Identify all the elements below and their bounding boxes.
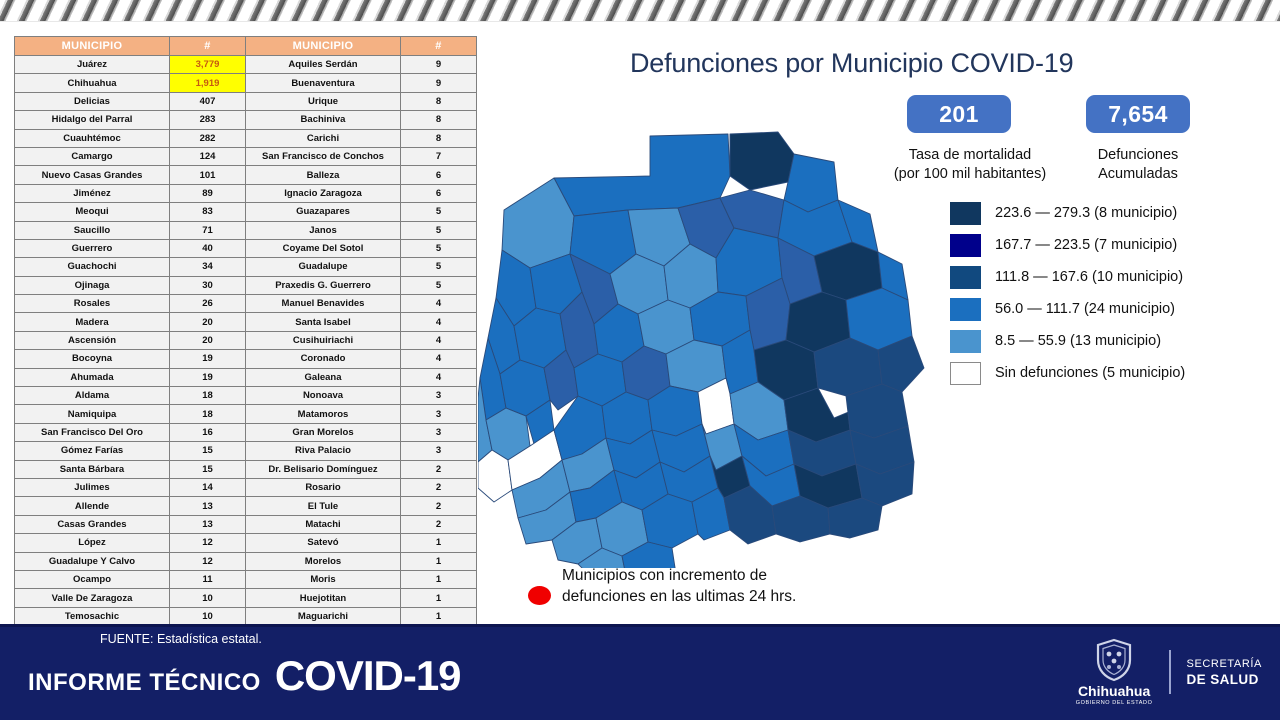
page-title: Defunciones por Municipio COVID-19 [630,48,1073,79]
cell-municipio-right: Satevó [246,534,401,552]
table-row: Guerrero40Coyame Del Sotol5 [15,239,477,257]
cell-count-right: 8 [401,129,477,147]
secretaria-de-salud-logo: SECRETARÍA DE SALUD [1187,657,1262,687]
stat-label-accumulated-deaths: Defunciones Acumuladas [1072,146,1204,184]
brand-prefix: INFORME TÉCNICO [28,669,261,697]
cell-count-right: 9 [401,74,477,92]
cell-municipio-left: Gómez Farías [15,442,170,460]
cell-municipio-left: Valle De Zaragoza [15,589,170,607]
cell-count-left: 89 [170,184,246,202]
table-header-row: MUNICIPIO # MUNICIPIO # [15,37,477,56]
legend-label: 167.7 — 223.5 (7 municipio) [995,237,1177,253]
table-row: Jiménez89Ignacio Zaragoza6 [15,184,477,202]
table-row: Guadalupe Y Calvo12Morelos1 [15,552,477,570]
legend-row: 56.0 — 111.7 (24 municipio) [950,293,1185,325]
legend-row: 223.6 — 279.3 (8 municipio) [950,197,1185,229]
stat-label-line2: Acumuladas [1072,165,1204,184]
cell-count-left: 40 [170,239,246,257]
cell-municipio-right: Galeana [246,368,401,386]
cell-municipio-left: San Francisco Del Oro [15,423,170,441]
cell-municipio-left: Temosachic [15,607,170,625]
cell-count-left: 30 [170,276,246,294]
col-header-municipio-right: MUNICIPIO [246,37,401,56]
cell-municipio-right: Morelos [246,552,401,570]
cell-count-right: 2 [401,497,477,515]
cell-count-right: 2 [401,460,477,478]
cell-municipio-left: Guerrero [15,239,170,257]
cell-municipio-right: El Tule [246,497,401,515]
cell-municipio-right: Huejotitan [246,589,401,607]
cell-municipio-left: Cuauhtémoc [15,129,170,147]
cell-municipio-right: Gran Morelos [246,423,401,441]
legend-color-swatch [950,266,981,289]
legend-color-swatch [950,298,981,321]
increment-note: Municipios con incremento de defunciones… [528,565,796,607]
cell-count-left: 12 [170,534,246,552]
chihuahua-label: Chihuahua [1078,683,1150,699]
municipality-deaths-table: MUNICIPIO # MUNICIPIO # Juárez3,779Aquil… [14,36,477,626]
salud-top-label: SECRETARÍA [1187,657,1262,672]
table-row: Juárez3,779Aquiles Serdán9 [15,56,477,74]
footer-logos: Chihuahua GOBIERNO DEL ESTADO SECRETARÍA… [1076,640,1262,704]
stat-label-line2: (por 100 mil habitantes) [880,165,1060,184]
cell-municipio-left: López [15,534,170,552]
chihuahua-choropleth-map [478,78,940,568]
cell-count-right: 3 [401,442,477,460]
legend-color-swatch [950,202,981,225]
table-row: Santa Bárbara15Dr. Belisario Domínguez2 [15,460,477,478]
table-row: Casas Grandes13Matachi2 [15,515,477,533]
cell-count-left: 15 [170,442,246,460]
table-row: Temosachic10Maguarichi1 [15,607,477,625]
cell-municipio-left: Guachochi [15,258,170,276]
legend-row: 111.8 — 167.6 (10 municipio) [950,261,1185,293]
legend-row: 8.5 — 55.9 (13 municipio) [950,325,1185,357]
table-row: Nuevo Casas Grandes101Balleza6 [15,166,477,184]
cell-municipio-left: Saucillo [15,221,170,239]
cell-count-right: 5 [401,276,477,294]
cell-municipio-right: Janos [246,221,401,239]
legend-label: 8.5 — 55.9 (13 municipio) [995,333,1161,349]
legend-color-swatch [950,234,981,257]
cell-municipio-right: Nonoava [246,387,401,405]
cell-municipio-right: Ignacio Zaragoza [246,184,401,202]
cell-municipio-left: Meoqui [15,203,170,221]
cell-municipio-right: Balleza [246,166,401,184]
cell-count-left: 83 [170,203,246,221]
cell-municipio-left: Delicias [15,92,170,110]
map-svg [478,78,940,568]
cell-count-left: 18 [170,387,246,405]
cell-count-left: 10 [170,589,246,607]
cell-municipio-right: Coyame Del Sotol [246,239,401,257]
cell-count-right: 7 [401,147,477,165]
map-legend: 223.6 — 279.3 (8 municipio)167.7 — 223.5… [950,197,1185,389]
cell-municipio-right: Rosario [246,478,401,496]
cell-municipio-right: Moris [246,570,401,588]
cell-count-left: 26 [170,295,246,313]
cell-count-right: 1 [401,589,477,607]
cell-count-right: 9 [401,56,477,74]
cell-municipio-left: Casas Grandes [15,515,170,533]
cell-count-right: 2 [401,478,477,496]
table-row: Aldama18Nonoava3 [15,387,477,405]
cell-count-left: 10 [170,607,246,625]
cell-municipio-right: Cusihuiriachi [246,331,401,349]
cell-count-left: 12 [170,552,246,570]
table-row: Madera20Santa Isabel4 [15,313,477,331]
cell-count-left: 13 [170,497,246,515]
cell-municipio-left: Guadalupe Y Calvo [15,552,170,570]
cell-municipio-left: Madera [15,313,170,331]
table-row: Valle De Zaragoza10Huejotitan1 [15,589,477,607]
cell-count-left: 1,919 [170,74,246,92]
cell-municipio-left: Ascensión [15,331,170,349]
cell-count-right: 6 [401,166,477,184]
cell-count-right: 3 [401,405,477,423]
table-row: Saucillo71Janos5 [15,221,477,239]
cell-count-right: 5 [401,258,477,276]
legend-label: 111.8 — 167.6 (10 municipio) [995,269,1183,285]
cell-count-right: 3 [401,423,477,441]
cell-count-right: 4 [401,295,477,313]
shield-icon [1094,638,1134,682]
cell-municipio-right: Aquiles Serdán [246,56,401,74]
col-header-municipio-left: MUNICIPIO [15,37,170,56]
table-row: Allende13El Tule2 [15,497,477,515]
legend-row: 167.7 — 223.5 (7 municipio) [950,229,1185,261]
table-row: Ocampo11Moris1 [15,570,477,588]
table-row: Hidalgo del Parral283Bachiniva8 [15,111,477,129]
cell-municipio-left: Aldama [15,387,170,405]
cell-count-right: 4 [401,350,477,368]
cell-municipio-left: Nuevo Casas Grandes [15,166,170,184]
table-body: Juárez3,779Aquiles Serdán9Chihuahua1,919… [15,56,477,626]
cell-count-left: 407 [170,92,246,110]
cell-count-right: 1 [401,534,477,552]
cell-count-left: 283 [170,111,246,129]
cell-municipio-left: Camargo [15,147,170,165]
legend-label: Sin defunciones (5 municipio) [995,365,1185,381]
cell-count-left: 20 [170,331,246,349]
map-regions-group [478,132,924,568]
cell-count-left: 11 [170,570,246,588]
cell-municipio-left: Jiménez [15,184,170,202]
table-row: Gómez Farías15Riva Palacio3 [15,442,477,460]
legend-row: Sin defunciones (5 municipio) [950,357,1185,389]
table-row: Julimes14Rosario2 [15,478,477,496]
cell-municipio-left: Ocampo [15,570,170,588]
cell-count-right: 5 [401,203,477,221]
brand-main: COVID-19 [275,652,461,700]
salud-bottom-label: DE SALUD [1187,672,1262,687]
table-row: Guachochi34Guadalupe5 [15,258,477,276]
cell-count-right: 3 [401,387,477,405]
footer-banner: FUENTE: Estadística estatal. INFORME TÉC… [0,624,1280,720]
table-row: Camargo124San Francisco de Conchos7 [15,147,477,165]
cell-count-left: 20 [170,313,246,331]
cell-municipio-right: Santa Isabel [246,313,401,331]
cell-count-left: 19 [170,368,246,386]
stat-label-mortality-rate: Tasa de mortalidad (por 100 mil habitant… [880,146,1060,184]
cell-municipio-left: Rosales [15,295,170,313]
note-line1: Municipios con incremento de [562,565,796,586]
cell-municipio-left: Namiquipa [15,405,170,423]
table-row: Delicias407Urique8 [15,92,477,110]
cell-municipio-left: Santa Bárbara [15,460,170,478]
cell-municipio-right: Riva Palacio [246,442,401,460]
footer-brand: INFORME TÉCNICO COVID-19 [28,652,461,700]
cell-count-left: 14 [170,478,246,496]
table-row: San Francisco Del Oro16Gran Morelos3 [15,423,477,441]
cell-municipio-right: Coronado [246,350,401,368]
cell-count-right: 8 [401,111,477,129]
cell-municipio-left: Ojinaga [15,276,170,294]
cell-municipio-left: Chihuahua [15,74,170,92]
cell-count-right: 5 [401,221,477,239]
cell-count-left: 18 [170,405,246,423]
cell-municipio-left: Julimes [15,478,170,496]
col-header-count-right: # [401,37,477,56]
cell-count-right: 6 [401,184,477,202]
cell-count-left: 15 [170,460,246,478]
stat-value-accumulated-deaths: 7,654 [1086,95,1190,133]
cell-municipio-right: Guadalupe [246,258,401,276]
cell-count-left: 124 [170,147,246,165]
chihuahua-government-logo: Chihuahua GOBIERNO DEL ESTADO [1076,638,1153,706]
table-row: Meoqui83Guazapares5 [15,203,477,221]
logo-divider [1169,650,1171,694]
cell-count-left: 282 [170,129,246,147]
cell-municipio-right: Carichi [246,129,401,147]
cell-municipio-right: Manuel Benavides [246,295,401,313]
cell-count-left: 101 [170,166,246,184]
cell-count-left: 34 [170,258,246,276]
cell-municipio-left: Bocoyna [15,350,170,368]
stat-value-mortality-rate: 201 [907,95,1011,133]
cell-count-right: 4 [401,313,477,331]
table-row: Bocoyna19Coronado4 [15,350,477,368]
cell-count-right: 1 [401,607,477,625]
red-dot-icon [528,586,551,605]
decorative-stripe-band [0,0,1280,22]
table-row: Ahumada19Galeana4 [15,368,477,386]
cell-count-right: 1 [401,552,477,570]
cell-municipio-left: Allende [15,497,170,515]
cell-count-right: 1 [401,570,477,588]
table-row: Namiquipa18Matamoros3 [15,405,477,423]
cell-municipio-right: Matachi [246,515,401,533]
increment-note-text: Municipios con incremento de defunciones… [562,565,796,607]
table-row: Ascensión20Cusihuiriachi4 [15,331,477,349]
legend-color-swatch [950,330,981,353]
cell-municipio-right: Dr. Belisario Domínguez [246,460,401,478]
cell-count-left: 19 [170,350,246,368]
cell-municipio-left: Hidalgo del Parral [15,111,170,129]
table-row: Ojinaga30Praxedis G. Guerrero5 [15,276,477,294]
stat-label-line1: Defunciones [1072,146,1204,165]
cell-municipio-right: San Francisco de Conchos [246,147,401,165]
table-row: López12Satevó1 [15,534,477,552]
source-text: FUENTE: Estadística estatal. [100,632,262,646]
col-header-count-left: # [170,37,246,56]
cell-count-right: 5 [401,239,477,257]
note-line2: defunciones en las ultimas 24 hrs. [562,586,796,607]
table-row: Cuauhtémoc282Carichi8 [15,129,477,147]
cell-municipio-right: Urique [246,92,401,110]
cell-municipio-right: Maguarichi [246,607,401,625]
cell-municipio-right: Matamoros [246,405,401,423]
legend-label: 56.0 — 111.7 (24 municipio) [995,301,1175,317]
cell-count-right: 2 [401,515,477,533]
cell-municipio-right: Praxedis G. Guerrero [246,276,401,294]
footer-divider [0,624,1280,627]
cell-count-left: 3,779 [170,56,246,74]
cell-count-right: 4 [401,368,477,386]
cell-municipio-right: Bachiniva [246,111,401,129]
cell-count-left: 13 [170,515,246,533]
cell-municipio-right: Buenaventura [246,74,401,92]
stat-label-line1: Tasa de mortalidad [880,146,1060,165]
cell-municipio-left: Juárez [15,56,170,74]
cell-count-right: 8 [401,92,477,110]
table-row: Chihuahua1,919Buenaventura9 [15,74,477,92]
legend-color-swatch [950,362,981,385]
cell-count-left: 16 [170,423,246,441]
cell-count-left: 71 [170,221,246,239]
cell-municipio-left: Ahumada [15,368,170,386]
legend-label: 223.6 — 279.3 (8 municipio) [995,205,1177,221]
cell-municipio-right: Guazapares [246,203,401,221]
cell-count-right: 4 [401,331,477,349]
municipality-table-container: MUNICIPIO # MUNICIPIO # Juárez3,779Aquil… [14,36,476,626]
table-row: Rosales26Manuel Benavides4 [15,295,477,313]
chihuahua-sublabel: GOBIERNO DEL ESTADO [1076,700,1153,706]
